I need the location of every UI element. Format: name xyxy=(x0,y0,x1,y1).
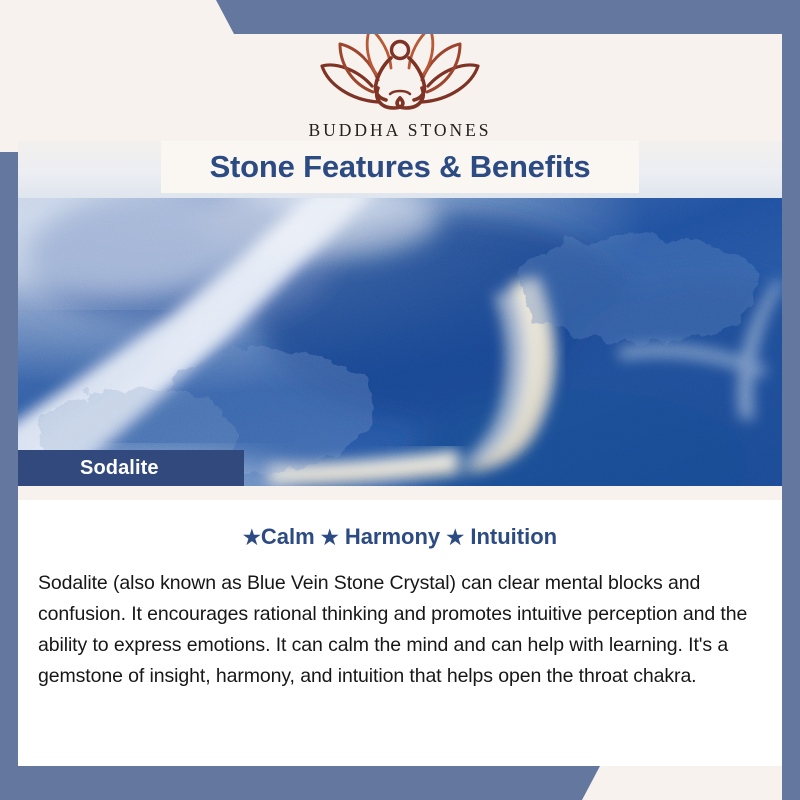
frame-accent-left xyxy=(0,152,18,800)
page-title: Stone Features & Benefits xyxy=(210,149,591,185)
content-top-strip xyxy=(18,486,782,500)
star-icon-1: ★ xyxy=(243,527,261,549)
stone-name-label: Sodalite xyxy=(18,457,159,480)
keywords-row: ★Calm ★ Harmony ★ Intuition xyxy=(18,524,782,550)
product-info-card: BUDDHA STONES Stone Features & Benefits xyxy=(0,0,800,800)
stone-name-badge: Sodalite xyxy=(18,450,244,486)
frame-accent-right xyxy=(782,0,800,800)
stone-description: Sodalite (also known as Blue Vein Stone … xyxy=(38,568,764,692)
keyword-calm: Calm xyxy=(261,524,315,549)
keyword-harmony: Harmony xyxy=(345,524,440,549)
brand-wordmark: BUDDHA STONES xyxy=(0,120,800,141)
keyword-intuition: Intuition xyxy=(470,524,557,549)
brand-logo-block: BUDDHA STONES xyxy=(0,22,800,141)
content-section: ★Calm ★ Harmony ★ Intuition Sodalite (al… xyxy=(18,486,782,766)
stone-photo xyxy=(18,198,782,486)
star-icon-2: ★ xyxy=(321,527,339,549)
frame-accent-bottom xyxy=(0,766,800,800)
star-icon-3: ★ xyxy=(446,527,464,549)
title-card: Stone Features & Benefits xyxy=(161,141,639,193)
lotus-meditation-icon xyxy=(316,22,484,114)
